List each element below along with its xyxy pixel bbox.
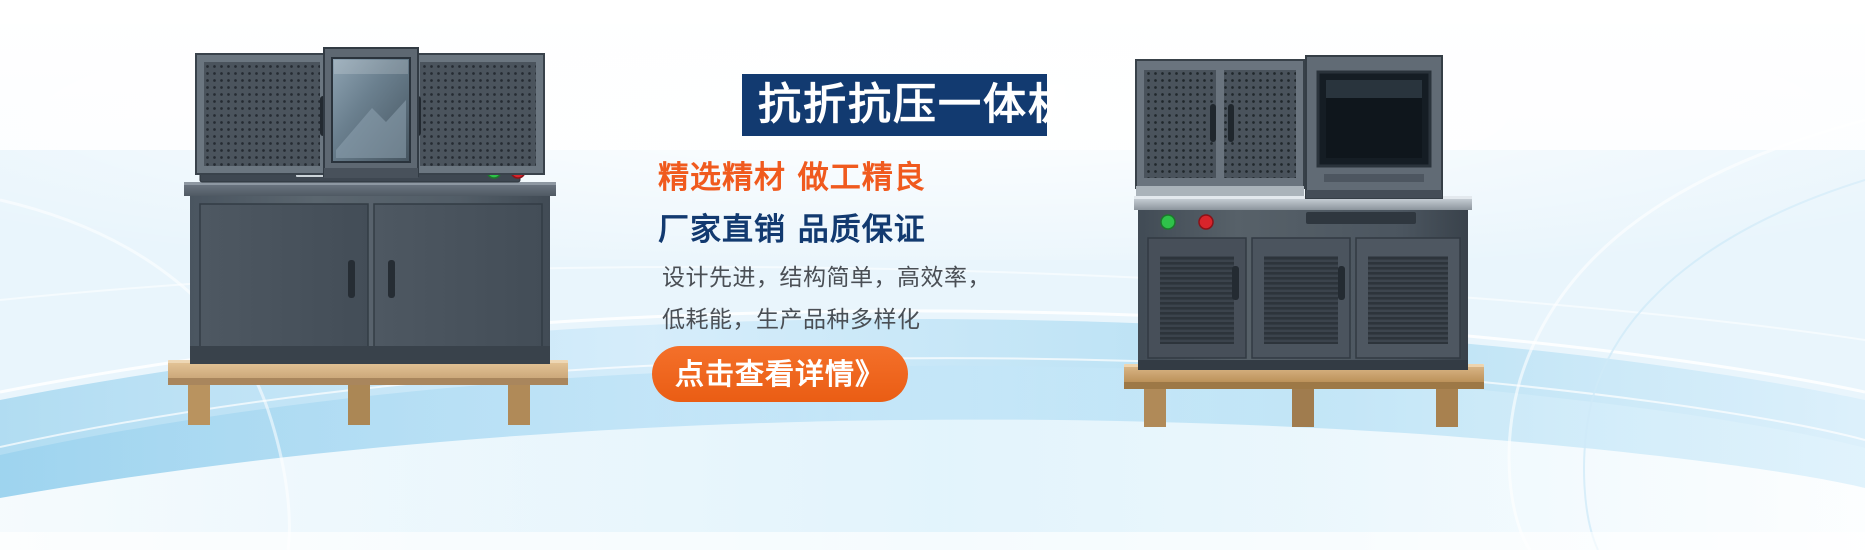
description-line-2: 低耗能，生产品种多样化	[662, 300, 921, 334]
copy-block: 抗折抗压一体机 精选精材 做工精良 厂家直销 品质保证 设计先进，结构简单，高效…	[640, 74, 1070, 404]
product-photo-flexural-compression-machine-closed	[1110, 42, 1500, 432]
door-handle-2	[1338, 266, 1345, 300]
view-details-button[interactable]: 点击查看详情》	[652, 346, 908, 402]
promo-banner: 抗折抗压一体机 精选精材 做工精良 厂家直销 品质保证 设计先进，结构简单，高效…	[0, 0, 1865, 550]
door-handle-1	[1232, 266, 1239, 300]
door-handle-right	[388, 260, 395, 298]
product-photo-flexural-compression-machine-open	[148, 42, 588, 432]
tagline-primary: 精选精材 做工精良	[658, 152, 926, 197]
perforated-door-panel-left	[196, 54, 328, 174]
upper-handle-1	[1210, 104, 1216, 142]
cabinet-body	[184, 160, 556, 364]
control-slot	[1306, 212, 1416, 224]
perforated-door-panels	[1136, 60, 1304, 196]
stop-lamp-red	[1199, 215, 1213, 229]
description-line-1: 设计先进，结构简单，高效率，	[662, 258, 991, 292]
cabinet-body	[1134, 196, 1472, 370]
page-title: 抗折抗压一体机	[758, 76, 1048, 134]
door-handle-left	[348, 260, 355, 298]
power-lamp-green	[1161, 215, 1175, 229]
monitor-enclosure	[1306, 56, 1442, 198]
test-chamber-window	[324, 48, 418, 178]
upper-handle-2	[1228, 104, 1234, 142]
wood-pallet	[1124, 364, 1484, 427]
wood-pallet	[168, 360, 568, 425]
perforated-door-panel-right	[412, 54, 544, 174]
tagline-secondary: 厂家直销 品质保证	[658, 204, 926, 249]
